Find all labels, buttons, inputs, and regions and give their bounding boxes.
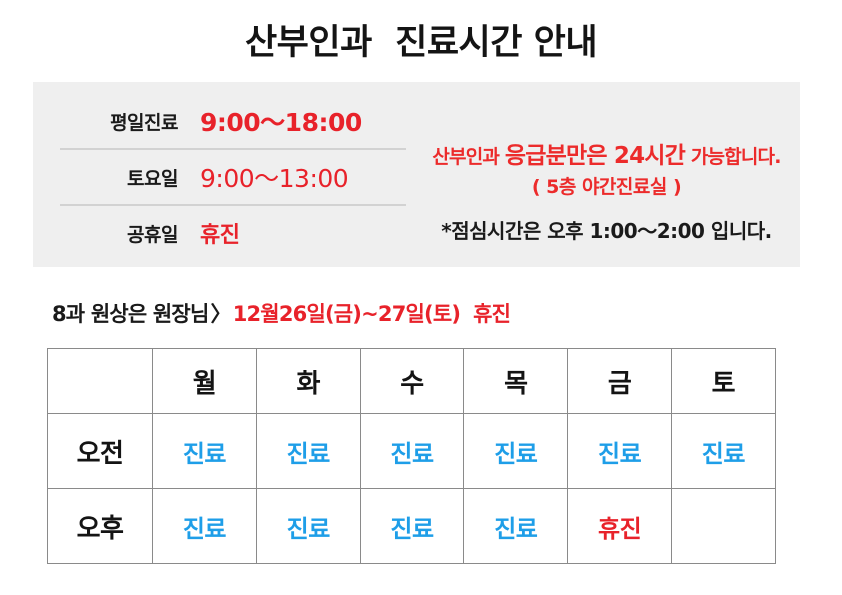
table-row-afternoon: 오후 진료 진료 진료 진료 휴진 <box>48 489 776 564</box>
hours-label-holiday: 공휴일 <box>60 220 200 247</box>
weekly-schedule-table: 월 화 수 목 금 토 오전 진료 진료 진료 진료 진료 진료 오후 진료 진… <box>47 348 776 564</box>
row-header-afternoon: 오후 <box>48 489 153 564</box>
table-row-morning: 오전 진료 진료 진료 진료 진료 진료 <box>48 414 776 489</box>
table-header-fri: 금 <box>568 349 672 414</box>
table-header-sat: 토 <box>671 349 775 414</box>
row-header-morning: 오전 <box>48 414 153 489</box>
table-header-wed: 수 <box>360 349 464 414</box>
hours-label-weekday: 평일진료 <box>60 108 200 135</box>
schedule-cell-morning-thu: 진료 <box>464 414 568 489</box>
schedule-cell-morning-tue: 진료 <box>256 414 360 489</box>
schedule-cell-morning-fri: 진료 <box>568 414 672 489</box>
schedule-cell-afternoon-mon: 진료 <box>153 489 257 564</box>
hours-row-weekday: 평일진료 9:00～18:00 <box>60 94 406 148</box>
emergency-notice-suffix: 가능합니다. <box>685 146 781 168</box>
hours-value-saturday: 9:00～13:00 <box>200 159 406 195</box>
schedule-cell-afternoon-fri: 휴진 <box>568 489 672 564</box>
schedule-cell-afternoon-wed: 진료 <box>360 489 464 564</box>
schedule-cell-morning-wed: 진료 <box>360 414 464 489</box>
clinic-hours-panel: 평일진료 9:00～18:00 토요일 9:00～13:00 공휴일 휴진 산부… <box>33 82 800 267</box>
lunch-time-note: *점심시간은 오후 1:00～2:00 입니다. <box>413 215 800 244</box>
table-corner-cell <box>48 349 153 414</box>
hours-value-holiday: 휴진 <box>200 217 406 249</box>
emergency-notice: 산부인과 응급분만은 24시간 가능합니다. <box>413 142 800 171</box>
chevron-right-icon: 〉 <box>208 302 232 326</box>
emergency-floor-note: ( 5층 야간진료실 ) <box>413 172 800 199</box>
emergency-notice-highlight: 응급분만은 24시간 <box>505 143 685 169</box>
table-header-thu: 목 <box>464 349 568 414</box>
table-header-mon: 월 <box>153 349 257 414</box>
table-header-row: 월 화 수 목 금 토 <box>48 349 776 414</box>
emergency-notice-prefix: 산부인과 <box>432 146 505 168</box>
doctor-absence-notice: 8과 원상은 원장님〉12월26일(금)~27일(토) 휴진 <box>52 304 510 325</box>
table-header-tue: 화 <box>256 349 360 414</box>
schedule-cell-afternoon-tue: 진료 <box>256 489 360 564</box>
schedule-cell-morning-sat: 진료 <box>671 414 775 489</box>
hours-row-saturday: 토요일 9:00～13:00 <box>60 148 406 204</box>
hours-list: 평일진료 9:00～18:00 토요일 9:00～13:00 공휴일 휴진 <box>60 94 406 260</box>
page-title: 산부인과 진료시간 안내 <box>0 14 842 65</box>
notice-absence-dates: 12월26일(금)~27일(토) 휴진 <box>233 302 511 326</box>
schedule-cell-morning-mon: 진료 <box>153 414 257 489</box>
notice-doctor-name: 8과 원상은 원장님 <box>52 302 208 326</box>
panel-notes: 산부인과 응급분만은 24시간 가능합니다. ( 5층 야간진료실 ) *점심시… <box>413 142 800 244</box>
hours-row-holiday: 공휴일 휴진 <box>60 204 406 260</box>
schedule-cell-afternoon-thu: 진료 <box>464 489 568 564</box>
schedule-cell-afternoon-sat <box>671 489 775 564</box>
hours-value-weekday: 9:00～18:00 <box>200 103 406 139</box>
hours-label-saturday: 토요일 <box>60 164 200 191</box>
